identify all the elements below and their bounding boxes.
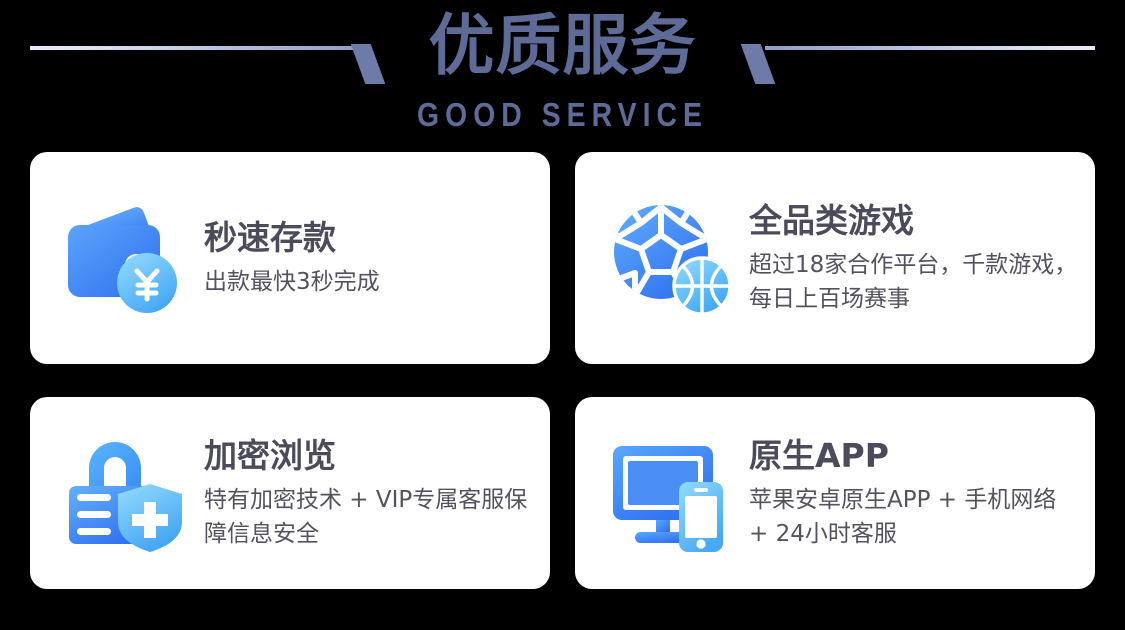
card-title: 加密浏览	[204, 435, 550, 477]
card-text-block: 加密浏览 特有加密技术 + VIP专属客服保障信息安全	[204, 435, 550, 551]
page-root: 优质服务 GOOD SERVICE	[0, 0, 1125, 630]
page-title: 优质服务	[0, 4, 1125, 88]
card-description: 出款最快3秒完成	[204, 265, 536, 299]
page-header: 优质服务 GOOD SERVICE	[0, 0, 1125, 148]
feature-card-native-app[interactable]: 原生APP 苹果安卓原生APP + 手机网络 + 24小时客服	[575, 397, 1095, 589]
card-title: 全品类游戏	[749, 200, 1095, 242]
card-title: 秒速存款	[204, 217, 550, 259]
card-description: 苹果安卓原生APP + 手机网络 + 24小时客服	[749, 483, 1081, 551]
card-text-block: 原生APP 苹果安卓原生APP + 手机网络 + 24小时客服	[749, 435, 1095, 551]
lock-shield-icon	[62, 430, 188, 556]
card-title: 原生APP	[749, 435, 1095, 477]
card-description: 超过18家合作平台，千款游戏，每日上百场赛事	[749, 248, 1089, 316]
feature-card-all-category-games[interactable]: 全品类游戏 超过18家合作平台，千款游戏，每日上百场赛事	[575, 152, 1095, 364]
page-subtitle: GOOD SERVICE	[79, 96, 1047, 134]
card-text-block: 全品类游戏 超过18家合作平台，千款游戏，每日上百场赛事	[749, 200, 1095, 316]
card-text-block: 秒速存款 出款最快3秒完成	[204, 217, 550, 299]
card-description: 特有加密技术 + VIP专属客服保障信息安全	[204, 483, 536, 551]
feature-card-instant-deposit[interactable]: 秒速存款 出款最快3秒完成	[30, 152, 550, 364]
feature-card-encrypted-browsing[interactable]: 加密浏览 特有加密技术 + VIP专属客服保障信息安全	[30, 397, 550, 589]
feature-card-grid: 秒速存款 出款最快3秒完成	[30, 152, 1095, 589]
wallet-yen-icon	[62, 195, 188, 321]
soccer-basketball-icon	[607, 195, 733, 321]
monitor-phone-icon	[607, 430, 733, 556]
